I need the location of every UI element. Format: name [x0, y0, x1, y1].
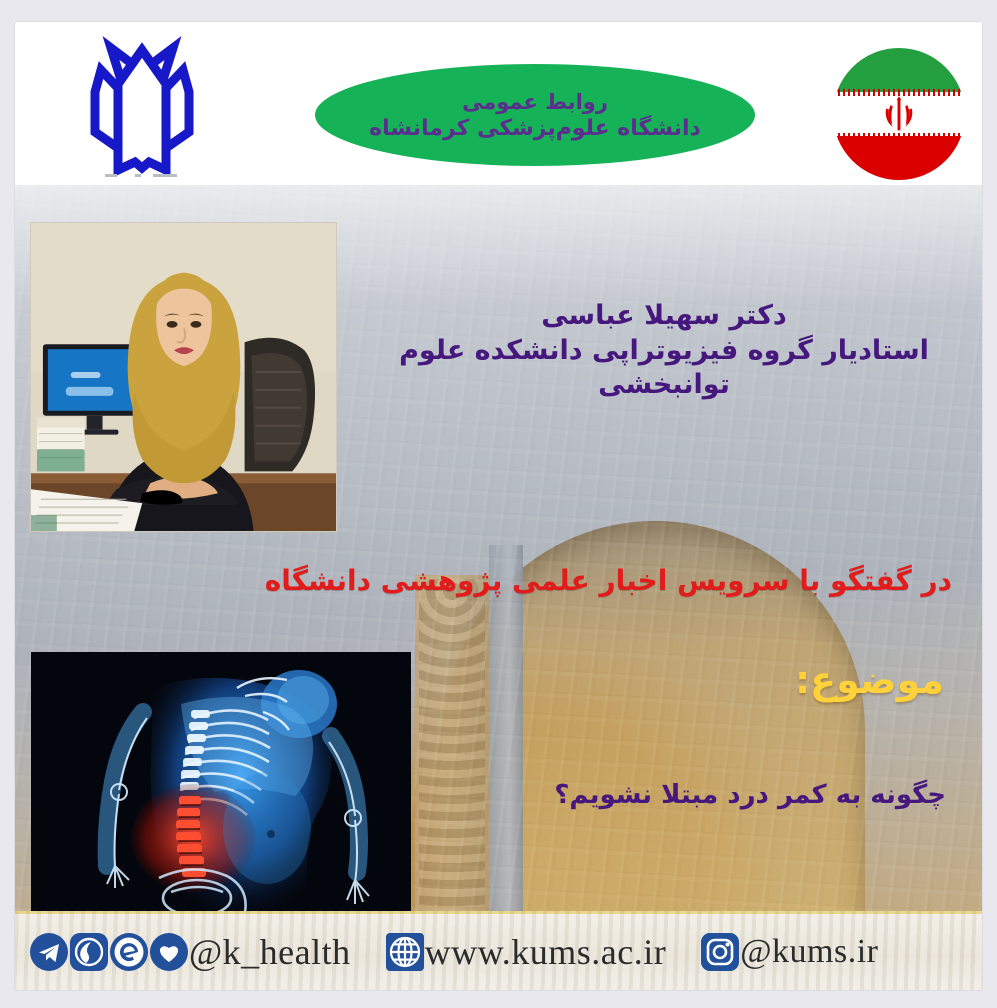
globe-icon[interactable]	[385, 932, 425, 972]
speaker-info: دکتر سهیلا عباسی استادیار گروه فیزیوتراپ…	[384, 299, 944, 403]
instagram-handle[interactable]: @kums.ir	[740, 933, 878, 971]
eitaa-icon[interactable]	[109, 932, 149, 972]
flag-green-band	[833, 48, 965, 92]
pr-line-2: دانشگاه علوم‌پزشکی کرمانشاه	[369, 116, 701, 141]
lower-back-pain-anatomy-illustration	[31, 652, 411, 920]
speaker-name: دکتر سهیلا عباسی	[384, 299, 944, 334]
instagram-group: @kums.ir	[700, 932, 878, 972]
pr-line-1: روابط عمومی	[462, 90, 608, 114]
website-group: www.kums.ac.ir	[385, 931, 667, 973]
interview-line: در گفتگو با سرویس اخبار علمی پژوهشی دانش…	[265, 564, 952, 597]
flag-red-band	[833, 136, 965, 180]
question-line: چگونه به کمر درد مبتلا نشویم؟	[554, 780, 946, 810]
telegram-icon[interactable]	[29, 932, 69, 972]
poster-footer: @k_health www.kums.ac.ir @kums.ir	[15, 911, 982, 990]
flag-kufic-band-bottom	[833, 133, 965, 140]
instagram-icon[interactable]	[700, 932, 740, 972]
messaging-apps-group: @k_health	[29, 931, 351, 973]
subject-label: موضوع:	[795, 658, 944, 702]
university-tulip-emblem-icon	[77, 32, 207, 182]
speaker-portrait	[30, 222, 337, 532]
public-relations-badge: روابط عمومی دانشگاه علوم‌پزشکی کرمانشاه	[315, 64, 755, 166]
messaging-handle[interactable]: @k_health	[189, 931, 351, 973]
iran-flag-icon	[833, 48, 965, 180]
bale-icon[interactable]	[149, 932, 189, 972]
soroush-icon[interactable]	[69, 932, 109, 972]
poster-header: روابط عمومی دانشگاه علوم‌پزشکی کرمانشاه	[15, 22, 982, 185]
website-url[interactable]: www.kums.ac.ir	[425, 931, 667, 973]
poster: روابط عمومی دانشگاه علوم‌پزشکی کرمانشاه	[15, 22, 982, 990]
iran-emblem-icon	[880, 94, 918, 134]
speaker-role: استادیار گروه فیزیوتراپی دانشکده علوم تو…	[384, 334, 944, 403]
